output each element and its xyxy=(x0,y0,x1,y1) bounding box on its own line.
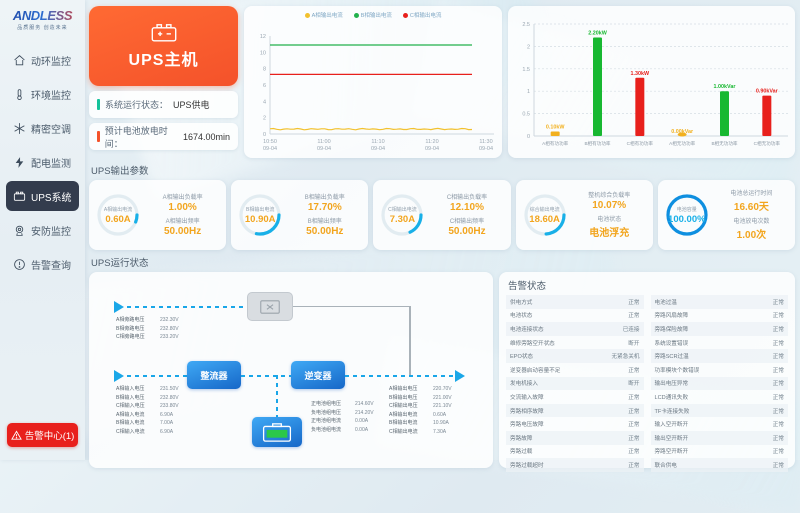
battery-module-icon xyxy=(262,423,292,442)
alarm-label: 电池连接状态 xyxy=(510,325,544,333)
svg-text:11:10: 11:10 xyxy=(371,139,384,145)
svg-text:1.30kW: 1.30kW xyxy=(631,71,650,77)
alarm-column-left: 供电方式正常电池状态正常电池连接状态已连接维修旁路空开状态断开EPO状态无紧急关… xyxy=(506,295,644,472)
reading-label: 负电池组电压 xyxy=(311,409,355,418)
alarm-status: 正常 xyxy=(628,447,639,455)
metric-label: 电池状态 xyxy=(597,214,621,223)
reading-value: 221.10V xyxy=(433,403,452,409)
battery-values: 正电池组电压214.60V负电池组电压214.20V正电池组电流0.00A负电池… xyxy=(311,400,374,434)
metric-value: 50.00Hz xyxy=(448,226,485,237)
svg-text:0: 0 xyxy=(263,132,266,138)
metric-value: 50.00Hz xyxy=(164,226,201,237)
camera-icon xyxy=(13,224,26,237)
reading-label: C相旁路电压 xyxy=(116,333,160,342)
warning-triangle-icon xyxy=(11,430,22,441)
reading-label: C相输入电压 xyxy=(116,402,160,411)
alarm-status: 正常 xyxy=(773,339,784,347)
line-chart-legend: A相输出电流B相输出电流C相输出电流 xyxy=(244,11,502,19)
alarm-label: LCD通讯失败 xyxy=(655,393,689,401)
diagram-reading: A相输出电流0.60A xyxy=(389,411,452,420)
gauge-card[interactable]: C相输出电流7.30AC相输出负载率12.10%C相输出频率50.00Hz xyxy=(373,180,510,250)
reading-label: C相输出电压 xyxy=(389,402,433,411)
metric-value: 16.60天 xyxy=(734,198,769,213)
gauge-card[interactable]: B相输出电流10.90AB相输出负载率17.70%B相输出频率50.00Hz xyxy=(231,180,368,250)
svg-text:6: 6 xyxy=(263,83,266,89)
reading-label: A相输出电压 xyxy=(389,385,433,394)
alarm-label: 旁路SCR过温 xyxy=(655,352,689,360)
svg-text:09-04: 09-04 xyxy=(263,146,277,152)
legend-label: C相输出电流 xyxy=(410,13,441,19)
alarm-status: 已连接 xyxy=(623,325,640,333)
power-bar-chart[interactable]: 00.511.522.50.10kWA相有功功率2.20kWB相有功功率1.30… xyxy=(508,6,795,158)
bypass-icon xyxy=(260,300,280,314)
alarm-row: 旁路SCR过温正常 xyxy=(651,349,789,363)
alarm-status: 正常 xyxy=(773,420,784,428)
system-status-pill: 系统运行状态： UPS供电 xyxy=(89,91,238,118)
reading-value: 233.80V xyxy=(160,403,179,409)
output-section-title: UPS输出参数 xyxy=(91,163,795,177)
gauge-metrics: B相输出负载率17.70%B相输出频率50.00Hz xyxy=(287,192,362,239)
metric-label: A相输出频率 xyxy=(166,216,200,225)
svg-text:09-04: 09-04 xyxy=(371,146,385,152)
sidebar-item-label: 安防监控 xyxy=(31,223,71,238)
alarm-status: 正常 xyxy=(628,434,639,442)
gauge-ring: 电池容量100.00% xyxy=(664,192,710,238)
alarm-label: 旁路过载 xyxy=(510,447,532,455)
alarm-row: 旁路故障正常 xyxy=(506,431,644,445)
rectifier-to-inverter-line xyxy=(241,375,291,377)
reading-value: 10.90A xyxy=(433,420,449,426)
home-icon xyxy=(13,54,26,67)
alarm-row: 发电机接入断开 xyxy=(506,377,644,391)
sidebar-item-label: 告警查询 xyxy=(31,257,71,272)
gauge-ring: 综合输出电流18.60A xyxy=(522,192,568,238)
alarm-status: 断开 xyxy=(628,339,639,347)
svg-text:0.5: 0.5 xyxy=(522,112,530,118)
bypass-module-block[interactable] xyxy=(247,292,293,321)
top-row: UPS主机 系统运行状态： UPS供电 预计电池放电时间： 1674.00min… xyxy=(89,6,795,158)
bypass-flow-arrow xyxy=(114,301,124,313)
alarm-row: LCD通讯失败正常 xyxy=(651,390,789,404)
system-status-label: 系统运行状态： xyxy=(105,98,168,111)
metric-value: 电池浮充 xyxy=(589,224,629,239)
alarm-status: 正常 xyxy=(773,366,784,374)
alarm-status: 断开 xyxy=(628,379,639,387)
metric-value: 1.00% xyxy=(168,202,196,213)
reading-value: 214.20V xyxy=(355,410,374,416)
metric-label: C相输出负载率 xyxy=(447,192,487,201)
svg-text:0: 0 xyxy=(527,134,530,140)
inverter-to-output-line xyxy=(345,375,455,377)
legend-swatch xyxy=(403,13,408,18)
gauge-value: 0.60A xyxy=(105,214,130,225)
alarm-label: 旁路过载超时 xyxy=(510,461,544,469)
svg-text:11:00: 11:00 xyxy=(317,139,330,145)
diagram-reading: 负电池组电流0.00A xyxy=(311,426,374,435)
svg-text:C相无功功率: C相无功功率 xyxy=(754,140,781,147)
battery-icon xyxy=(151,23,177,43)
svg-text:2: 2 xyxy=(263,116,266,122)
bolt-icon xyxy=(13,156,26,169)
diagram-reading: C相输出电流7.30A xyxy=(389,428,452,437)
battery-discharge-label: 预计电池放电时间： xyxy=(105,124,178,150)
alarm-label: 电池过温 xyxy=(655,298,677,306)
metric-value: 50.00Hz xyxy=(306,226,343,237)
bypass-flow-line xyxy=(127,306,247,308)
gauge-card[interactable]: A相输出电流0.60AA相输出负载率1.00%A相输出频率50.00Hz xyxy=(89,180,226,250)
alarm-grid: 供电方式正常电池状态正常电池连接状态已连接维修旁路空开状态断开EPO状态无紧急关… xyxy=(506,295,788,472)
svg-text:0.10kW: 0.10kW xyxy=(546,125,565,131)
snowflake-icon xyxy=(13,122,26,135)
output-current-line-chart[interactable]: A相输出电流B相输出电流C相输出电流 02468101210:5009-0411… xyxy=(244,6,502,158)
gauge-label: B相输出电流 xyxy=(246,206,274,213)
svg-text:09-04: 09-04 xyxy=(425,146,439,152)
gauge-label: 电池容量 xyxy=(677,206,697,213)
input-flow-line xyxy=(127,375,187,377)
rectifier-label: 整流器 xyxy=(200,369,227,382)
reading-value: 214.60V xyxy=(355,401,374,407)
alarm-row: TF卡连接失败正常 xyxy=(651,404,789,418)
metric-value: 1.00次 xyxy=(737,226,766,241)
svg-text:09-04: 09-04 xyxy=(479,146,493,152)
diagram-reading: A相输出电压220.70V xyxy=(389,385,452,394)
alarm-label: 旁路风扇故障 xyxy=(655,311,689,319)
metric-label: 电池放电次数 xyxy=(733,216,769,225)
alarm-label: EPO状态 xyxy=(510,352,533,360)
alarm-row: EPO状态无紧急关机 xyxy=(506,349,644,363)
battery-icon xyxy=(13,190,26,203)
sidebar-nav: 动环监控环境监控精密空调配电监测UPS系统安防监控告警查询 xyxy=(0,45,85,279)
sidebar-item-安防监控[interactable]: 安防监控 xyxy=(6,215,79,245)
metric-label: 电池总运行时间 xyxy=(730,188,772,197)
sidebar-item-配电监测[interactable]: 配电监测 xyxy=(6,147,79,177)
alarm-label: 旁路故障 xyxy=(510,434,532,442)
legend-item[interactable]: B相输出电流 xyxy=(354,11,392,19)
reading-label: B相旁路电压 xyxy=(116,325,160,334)
alarm-row: 输入空开断开正常 xyxy=(651,417,789,431)
gauge-ring: C相输出电流7.30A xyxy=(379,192,425,238)
legend-label: A相输出电流 xyxy=(312,13,343,19)
metric-label: B相输出频率 xyxy=(308,216,342,225)
gauge-value: 7.30A xyxy=(390,214,415,225)
alarm-status: 正常 xyxy=(628,393,639,401)
alarm-row: 电池连接状态已连接 xyxy=(506,322,644,336)
alarm-label: 交流输入故障 xyxy=(510,393,544,401)
gauge-card[interactable]: 电池容量100.00%电池总运行时间16.60天电池放电次数1.00次 xyxy=(658,180,795,250)
alarm-label: 供电方式 xyxy=(510,298,532,306)
alarm-row: 维修旁路空开状态断开 xyxy=(506,336,644,350)
alarm-label: 旁路电压故障 xyxy=(510,420,544,428)
svg-text:2.20kW: 2.20kW xyxy=(588,30,607,36)
sidebar-item-label: 动环监控 xyxy=(31,53,71,68)
battery-discharge-pill: 预计电池放电时间： 1674.00min xyxy=(89,123,238,150)
gauge-row: A相输出电流0.60AA相输出负载率1.00%A相输出频率50.00HzB相输出… xyxy=(89,180,795,250)
sidebar-item-告警查询[interactable]: 告警查询 xyxy=(6,249,79,279)
reading-value: 0.00A xyxy=(355,427,368,433)
alarm-row: 联合供电正常 xyxy=(651,458,789,472)
alarm-label: 维修旁路空开状态 xyxy=(510,339,555,347)
alarm-label: TF卡连接失败 xyxy=(655,407,690,415)
system-status-value: UPS供电 xyxy=(173,98,210,111)
alarm-label: 发电机接入 xyxy=(510,379,538,387)
alarm-row: 旁路相序故障正常 xyxy=(506,404,644,418)
alarm-label: 功率模块个数错误 xyxy=(655,366,700,374)
reading-value: 7.00A xyxy=(160,420,173,426)
sidebar-item-label: 配电监测 xyxy=(31,155,71,170)
svg-text:2.5: 2.5 xyxy=(522,22,530,28)
reading-label: A相输入电压 xyxy=(116,385,160,394)
diagram-reading: C相输入电压233.80V xyxy=(116,402,179,411)
alarm-status: 正常 xyxy=(628,407,639,415)
diagram-reading: C相输出电压221.10V xyxy=(389,402,452,411)
legend-item[interactable]: A相输出电流 xyxy=(305,11,343,19)
svg-text:B相无功功率: B相无功功率 xyxy=(711,140,737,147)
alarm-status: 正常 xyxy=(773,325,784,333)
alarm-row: 旁路风扇故障正常 xyxy=(651,309,789,323)
alarm-row: 旁路空开断开正常 xyxy=(651,445,789,459)
reading-label: 正电池组电流 xyxy=(311,417,355,426)
alarm-status: 正常 xyxy=(773,298,784,306)
gauge-label: C相输出电流 xyxy=(388,206,417,213)
alarm-row: 输出空开断开正常 xyxy=(651,431,789,445)
alarm-status: 正常 xyxy=(773,379,784,387)
alarm-center-button[interactable]: 告警中心(1) xyxy=(7,423,78,447)
alarm-label: 旁路相序故障 xyxy=(510,407,544,415)
reading-value: 232.80V xyxy=(160,395,179,401)
diagram-reading: 正电池组电流0.00A xyxy=(311,417,374,426)
alarm-row: 输出电压异常正常 xyxy=(651,377,789,391)
metric-label: A相输出负载率 xyxy=(163,192,203,201)
ups-flow-diagram: A相旁路电压232.30VB相旁路电压232.80VC相旁路电压233.20V … xyxy=(89,272,493,468)
alarm-label: 输出空开断开 xyxy=(655,434,689,442)
svg-text:2: 2 xyxy=(527,44,530,50)
ups-host-title: UPS主机 xyxy=(129,46,199,70)
svg-text:09-04: 09-04 xyxy=(317,146,331,152)
reading-value: 220.70V xyxy=(433,386,452,392)
svg-text:A相无功功率: A相无功功率 xyxy=(669,140,695,147)
gauge-label: 综合输出电流 xyxy=(530,206,560,213)
gauge-ring: B相输出电流10.90A xyxy=(237,192,283,238)
reading-value: 6.90A xyxy=(160,429,173,435)
sidebar: ANDLESS 品质服务 创造未来 动环监控环境监控精密空调配电监测UPS系统安… xyxy=(0,0,85,460)
gauge-card[interactable]: 综合输出电流18.60A整机综合负载率10.07%电池状态电池浮充 xyxy=(516,180,653,250)
gauge-ring: A相输出电流0.60A xyxy=(95,192,141,238)
alarm-column-right: 电池过温正常旁路风扇故障正常旁路保险故障正常系统设置错误正常旁路SCR过温正常功… xyxy=(651,295,789,472)
alarm-label: 输出电压异常 xyxy=(655,379,689,387)
alarm-label: 旁路空开断开 xyxy=(655,447,689,455)
svg-text:8: 8 xyxy=(263,67,266,73)
reading-label: 负电池组电流 xyxy=(311,426,355,435)
sidebar-item-动环监控[interactable]: 动环监控 xyxy=(6,45,79,75)
alarm-section-title: 告警状态 xyxy=(508,278,788,292)
sidebar-item-label: 精密空调 xyxy=(31,121,71,136)
diagram-reading: B相旁路电压232.80V xyxy=(116,325,179,334)
reading-value: 231.50V xyxy=(160,386,179,392)
legend-swatch xyxy=(354,13,359,18)
alarm-row: 电池过温正常 xyxy=(651,295,789,309)
reading-value: 232.30V xyxy=(160,317,179,323)
gauge-value: 100.00% xyxy=(668,214,706,225)
diagram-reading: C相旁路电压233.20V xyxy=(116,333,179,342)
svg-text:1: 1 xyxy=(527,89,530,95)
gauge-metrics: 整机综合负载率10.07%电池状态电池浮充 xyxy=(572,190,647,241)
bar-chart-svg: 00.511.522.50.10kWA相有功功率2.20kWB相有功功率1.30… xyxy=(508,6,795,158)
alarm-center-label: 告警中心(1) xyxy=(25,428,75,442)
alarm-row: 旁路过载超时正常 xyxy=(506,458,644,472)
alarm-label: 逆变器启动容量不足 xyxy=(510,366,560,374)
gauge-metrics: 电池总运行时间16.60天电池放电次数1.00次 xyxy=(714,188,789,243)
svg-text:A相有功功率: A相有功功率 xyxy=(542,140,568,147)
alarm-status: 正常 xyxy=(628,298,639,306)
svg-text:1.00kVar: 1.00kVar xyxy=(714,84,737,90)
gauge-metrics: A相输出负载率1.00%A相输出频率50.00Hz xyxy=(145,192,220,239)
alarm-status: 正常 xyxy=(773,352,784,360)
main-content: UPS主机 系统运行状态： UPS供电 预计电池放电时间： 1674.00min… xyxy=(85,0,800,460)
alarm-row: 供电方式正常 xyxy=(506,295,644,309)
diagram-reading: B相输入电压232.80V xyxy=(116,394,179,403)
gauge-metrics: C相输出负载率12.10%C相输出频率50.00Hz xyxy=(429,192,504,239)
reading-label: A相输出电流 xyxy=(389,411,433,420)
reading-label: B相输出电压 xyxy=(389,394,433,403)
alarm-status: 正常 xyxy=(773,311,784,319)
exclamation-icon xyxy=(13,258,26,271)
legend-swatch xyxy=(305,13,310,18)
reading-value: 0.60A xyxy=(433,412,446,418)
line-chart-svg: 02468101210:5009-0411:0009-0411:1009-041… xyxy=(244,6,502,158)
discharge-indicator-bar xyxy=(97,131,100,142)
alarm-row: 旁路电压故障正常 xyxy=(506,417,644,431)
alarm-row: 电池状态正常 xyxy=(506,309,644,323)
svg-text:11:20: 11:20 xyxy=(425,139,438,145)
bottom-row: A相旁路电压232.30VB相旁路电压232.80VC相旁路电压233.20V … xyxy=(89,272,795,468)
diagram-reading: B相输出电流10.90A xyxy=(389,419,452,428)
output-flow-arrow xyxy=(455,370,465,382)
svg-text:10:50: 10:50 xyxy=(263,139,277,145)
reading-value: 0.00A xyxy=(355,418,368,424)
brand-logo: ANDLESS 品质服务 创造未来 xyxy=(0,0,85,41)
gauge-value: 18.60A xyxy=(529,214,560,225)
diagram-reading: 负电池组电压214.20V xyxy=(311,409,374,418)
reading-value: 221.00V xyxy=(433,395,452,401)
metric-value: 10.07% xyxy=(592,200,626,211)
diagram-reading: A相旁路电压232.30V xyxy=(116,316,179,325)
alarm-status: 正常 xyxy=(773,393,784,401)
logo-tagline: 品质服务 创造未来 xyxy=(0,24,85,31)
legend-label: B相输出电流 xyxy=(361,13,392,19)
metric-value: 17.70% xyxy=(308,202,342,213)
alarm-status: 正常 xyxy=(628,461,639,469)
battery-discharge-value: 1674.00min xyxy=(183,132,230,142)
diagram-reading: A相输入电流6.90A xyxy=(116,411,179,420)
svg-text:11:30: 11:30 xyxy=(479,139,492,145)
sidebar-item-环境监控[interactable]: 环境监控 xyxy=(6,79,79,109)
output-values: A相输出电压220.70VB相输出电压221.00VC相输出电压221.10VA… xyxy=(389,385,452,437)
alarm-status: 无紧急关机 xyxy=(612,352,640,360)
bypass-values: A相旁路电压232.30VB相旁路电压232.80VC相旁路电压233.20V xyxy=(116,316,179,342)
reading-label: 正电池组电压 xyxy=(311,400,355,409)
thermometer-icon xyxy=(13,88,26,101)
alarm-label: 系统设置错误 xyxy=(655,339,689,347)
alarm-row: 系统设置错误正常 xyxy=(651,336,789,350)
sidebar-item-label: UPS系统 xyxy=(31,189,72,204)
alarm-label: 联合供电 xyxy=(655,461,677,469)
logo-text: ANDLESS xyxy=(0,8,85,23)
svg-text:12: 12 xyxy=(260,34,266,40)
diagram-section-title: UPS运行状态 xyxy=(91,255,495,269)
metric-label: 整机综合负载率 xyxy=(588,190,630,199)
svg-text:0.90kVar: 0.90kVar xyxy=(756,89,779,95)
alarm-status: 正常 xyxy=(773,434,784,442)
diagram-reading: B相输入电流7.00A xyxy=(116,419,179,428)
svg-text:B相有功功率: B相有功功率 xyxy=(584,140,610,147)
svg-text:1.5: 1.5 xyxy=(522,67,530,73)
alarm-status: 正常 xyxy=(628,366,639,374)
reading-label: A相输入电流 xyxy=(116,411,160,420)
alarm-status: 正常 xyxy=(773,447,784,455)
alarm-label: 旁路保险故障 xyxy=(655,325,689,333)
input-values: A相输入电压231.50VB相输入电压232.80VC相输入电压233.80VA… xyxy=(116,385,179,437)
metric-label: B相输出负载率 xyxy=(305,192,345,201)
inverter-label: 逆变器 xyxy=(304,369,331,382)
alarm-row: 逆变器启动容量不足正常 xyxy=(506,363,644,377)
svg-text:C相有功功率: C相有功功率 xyxy=(627,140,654,147)
sidebar-item-UPS系统[interactable]: UPS系统 xyxy=(6,181,79,211)
alarm-row: 旁路保险故障正常 xyxy=(651,322,789,336)
status-indicator-bar xyxy=(97,99,100,110)
alarm-row: 旁路过载正常 xyxy=(506,445,644,459)
battery-branch-line xyxy=(276,375,278,417)
diagram-reading: A相输入电压231.50V xyxy=(116,385,179,394)
alarm-status: 正常 xyxy=(628,311,639,319)
inverter-block[interactable]: 逆变器 xyxy=(291,361,345,389)
bypass-down-line xyxy=(409,306,411,376)
alarm-status: 正常 xyxy=(773,461,784,469)
battery-block[interactable] xyxy=(252,417,302,447)
reading-label: B相输出电流 xyxy=(389,419,433,428)
reading-value: 233.20V xyxy=(160,334,179,340)
alarm-label: 电池状态 xyxy=(510,311,532,319)
reading-label: C相输出电流 xyxy=(389,428,433,437)
svg-text:4: 4 xyxy=(263,99,266,105)
sidebar-item-精密空调[interactable]: 精密空调 xyxy=(6,113,79,143)
input-flow-arrow xyxy=(114,370,124,382)
alarm-row: 交流输入故障正常 xyxy=(506,390,644,404)
reading-label: C相输入电流 xyxy=(116,428,160,437)
alarm-status: 正常 xyxy=(628,420,639,428)
diagram-reading: C相输入电流6.90A xyxy=(116,428,179,437)
alarm-status: 正常 xyxy=(773,407,784,415)
svg-text:0.00kVar: 0.00kVar xyxy=(671,129,694,135)
metric-value: 12.10% xyxy=(450,202,484,213)
svg-text:10: 10 xyxy=(260,50,266,56)
diagram-reading: 正电池组电压214.60V xyxy=(311,400,374,409)
reading-value: 6.90A xyxy=(160,412,173,418)
legend-item[interactable]: C相输出电流 xyxy=(403,11,441,19)
alarm-row: 功率模块个数错误正常 xyxy=(651,363,789,377)
reading-label: A相旁路电压 xyxy=(116,316,160,325)
ups-host-column: UPS主机 系统运行状态： UPS供电 预计电池放电时间： 1674.00min xyxy=(89,6,238,158)
reading-label: B相输入电流 xyxy=(116,419,160,428)
alarm-status-panel: 告警状态 供电方式正常电池状态正常电池连接状态已连接维修旁路空开状态断开EPO状… xyxy=(499,272,795,468)
reading-value: 7.30A xyxy=(433,429,446,435)
reading-label: B相输入电压 xyxy=(116,394,160,403)
metric-label: C相输出频率 xyxy=(450,216,484,225)
ups-host-card[interactable]: UPS主机 xyxy=(89,6,238,86)
alarm-label: 输入空开断开 xyxy=(655,420,689,428)
diagram-reading: B相输出电压221.00V xyxy=(389,394,452,403)
rectifier-block[interactable]: 整流器 xyxy=(187,361,241,389)
gauge-value: 10.90A xyxy=(245,214,276,225)
